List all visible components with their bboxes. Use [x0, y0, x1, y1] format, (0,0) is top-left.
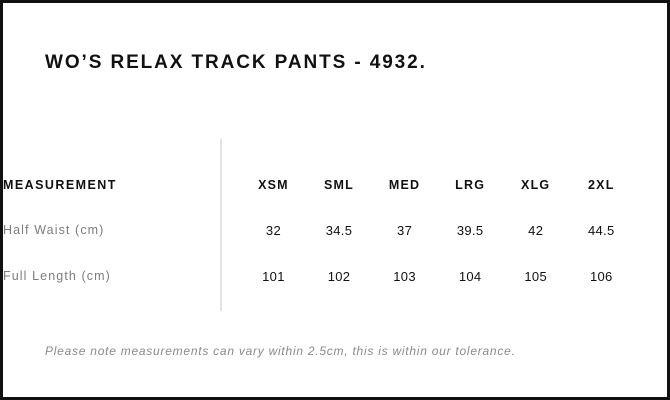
table-row: Half Waist (cm) 32 34.5 37 39.5 42 44.5: [3, 207, 670, 253]
column-header-lrg: LRG: [437, 163, 503, 207]
row-spacer: [634, 207, 670, 253]
table-row: Full Length (cm) 101 102 103 104 105 106: [3, 253, 670, 299]
cell-full-length-xsm: 101: [241, 253, 307, 299]
row-spacer: [634, 253, 670, 299]
size-table-container: MEASUREMENT XSM SML MED LRG XLG 2XL Half…: [3, 163, 670, 299]
column-header-spacer: [634, 163, 670, 207]
cell-full-length-2xl: 106: [568, 253, 634, 299]
column-header-xlg: XLG: [503, 163, 569, 207]
tolerance-footnote: Please note measurements can vary within…: [45, 344, 516, 358]
column-header-measurement: MEASUREMENT: [3, 163, 241, 207]
cell-half-waist-xlg: 42: [503, 207, 569, 253]
page-title: WO’S RELAX TRACK PANTS - 4932.: [45, 52, 427, 74]
table-header-row: MEASUREMENT XSM SML MED LRG XLG 2XL: [3, 163, 670, 207]
column-header-sml: SML: [306, 163, 372, 207]
cell-half-waist-xsm: 32: [241, 207, 307, 253]
cell-full-length-xlg: 105: [503, 253, 569, 299]
cell-full-length-sml: 102: [306, 253, 372, 299]
column-header-2xl: 2XL: [568, 163, 634, 207]
column-header-xsm: XSM: [241, 163, 307, 207]
size-table-body: Half Waist (cm) 32 34.5 37 39.5 42 44.5 …: [3, 207, 670, 299]
row-label-half-waist: Half Waist (cm): [3, 207, 241, 253]
cell-half-waist-2xl: 44.5: [568, 207, 634, 253]
cell-half-waist-med: 37: [372, 207, 438, 253]
row-label-full-length: Full Length (cm): [3, 253, 241, 299]
cell-half-waist-lrg: 39.5: [437, 207, 503, 253]
size-table: MEASUREMENT XSM SML MED LRG XLG 2XL Half…: [3, 163, 670, 299]
cell-half-waist-sml: 34.5: [306, 207, 372, 253]
column-header-med: MED: [372, 163, 438, 207]
cell-full-length-med: 103: [372, 253, 438, 299]
size-chart-card: WO’S RELAX TRACK PANTS - 4932. MEASUREME…: [0, 0, 670, 400]
size-table-header: MEASUREMENT XSM SML MED LRG XLG 2XL: [3, 163, 670, 207]
cell-full-length-lrg: 104: [437, 253, 503, 299]
